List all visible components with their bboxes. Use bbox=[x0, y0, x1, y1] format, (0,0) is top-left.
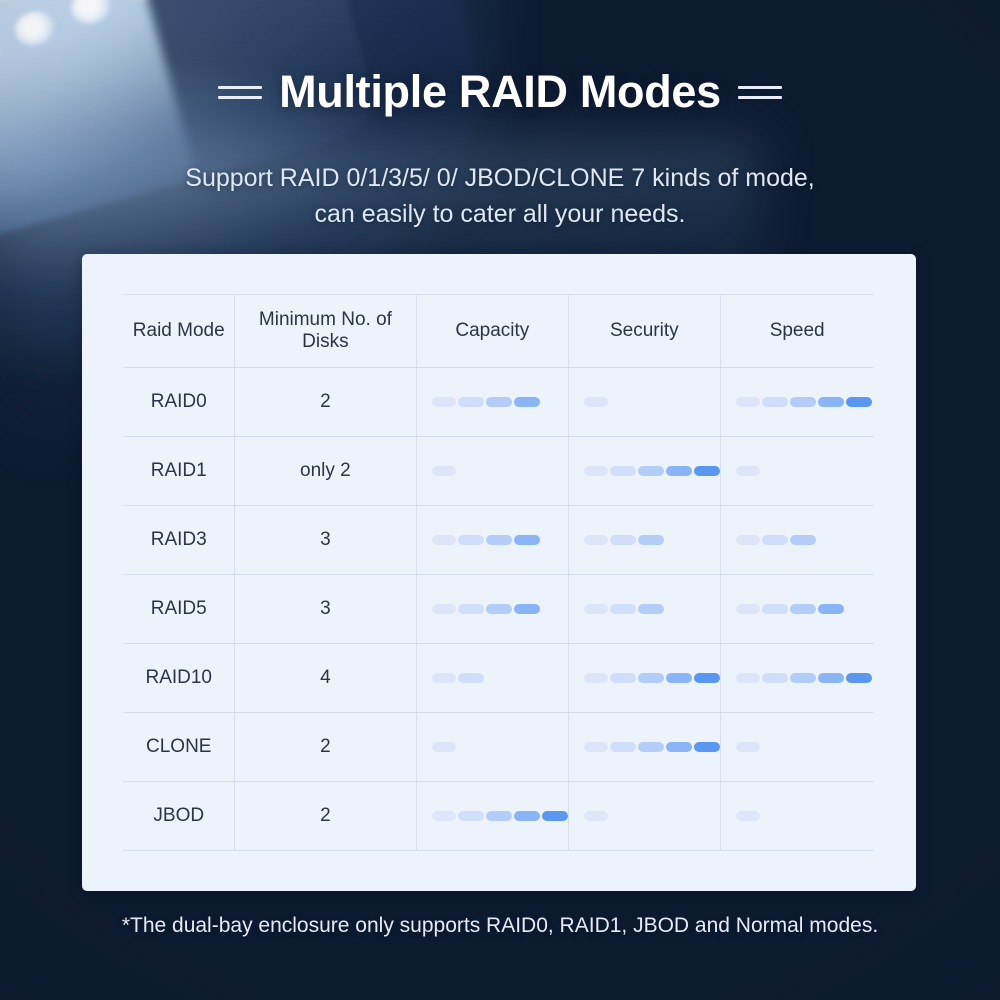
rating-segment bbox=[638, 466, 664, 476]
cell-capacity bbox=[416, 644, 568, 713]
rating-segment bbox=[666, 742, 692, 752]
capacity-rating-bar bbox=[432, 397, 568, 407]
raid-modes-panel: Raid Mode Minimum No. of Disks Capacity … bbox=[82, 254, 916, 891]
rating-segment bbox=[542, 811, 568, 821]
rating-segment bbox=[762, 535, 788, 545]
column-header-raid-mode: Raid Mode bbox=[123, 295, 234, 368]
security-rating-bar bbox=[584, 397, 720, 407]
rating-segment bbox=[610, 742, 636, 752]
cell-raid-mode: CLONE bbox=[123, 713, 234, 782]
speed-rating-bar bbox=[736, 535, 874, 545]
cell-min-disks: 4 bbox=[234, 644, 416, 713]
capacity-rating-bar bbox=[432, 673, 568, 683]
cell-raid-mode: RAID0 bbox=[123, 368, 234, 437]
rating-segment bbox=[638, 742, 664, 752]
cell-security bbox=[568, 437, 720, 506]
table-row: RAID104 bbox=[123, 644, 874, 713]
rating-segment bbox=[610, 673, 636, 683]
cell-speed bbox=[720, 713, 874, 782]
security-rating-bar bbox=[584, 811, 720, 821]
rating-segment bbox=[638, 535, 664, 545]
rating-segment bbox=[736, 466, 760, 476]
cell-capacity bbox=[416, 368, 568, 437]
security-rating-bar bbox=[584, 604, 720, 614]
column-header-capacity: Capacity bbox=[416, 295, 568, 368]
double-dash-rule-icon-left bbox=[218, 86, 262, 99]
cell-security bbox=[568, 644, 720, 713]
cell-security bbox=[568, 368, 720, 437]
rating-segment bbox=[736, 673, 760, 683]
rating-segment bbox=[736, 604, 760, 614]
cell-capacity bbox=[416, 575, 568, 644]
subtitle-line-1: Support RAID 0/1/3/5/ 0/ JBOD/CLONE 7 ki… bbox=[0, 160, 1000, 196]
capacity-rating-bar bbox=[432, 535, 568, 545]
cell-security bbox=[568, 575, 720, 644]
rating-segment bbox=[790, 673, 816, 683]
cell-raid-mode: RAID5 bbox=[123, 575, 234, 644]
title-row: Multiple RAID Modes bbox=[0, 66, 1000, 118]
cell-speed bbox=[720, 506, 874, 575]
table-body: RAID02RAID1only 2RAID33RAID53RAID104CLON… bbox=[123, 368, 874, 851]
rating-segment bbox=[432, 466, 456, 476]
cell-min-disks: 3 bbox=[234, 575, 416, 644]
rating-segment bbox=[432, 742, 456, 752]
speed-rating-bar bbox=[736, 742, 874, 752]
rating-segment bbox=[432, 604, 456, 614]
table-row: RAID02 bbox=[123, 368, 874, 437]
rating-segment bbox=[432, 811, 456, 821]
rating-segment bbox=[514, 604, 540, 614]
rating-segment bbox=[584, 604, 608, 614]
cell-min-disks: only 2 bbox=[234, 437, 416, 506]
rating-segment bbox=[736, 811, 760, 821]
rating-segment bbox=[458, 397, 484, 407]
rating-segment bbox=[846, 673, 872, 683]
table-row: JBOD2 bbox=[123, 782, 874, 851]
rating-segment bbox=[458, 535, 484, 545]
rating-segment bbox=[514, 811, 540, 821]
rating-segment bbox=[818, 397, 844, 407]
rating-segment bbox=[458, 811, 484, 821]
table-row: RAID1only 2 bbox=[123, 437, 874, 506]
column-header-min-disks: Minimum No. of Disks bbox=[234, 295, 416, 368]
rating-segment bbox=[432, 397, 456, 407]
rating-segment bbox=[584, 811, 608, 821]
rating-segment bbox=[736, 397, 760, 407]
rating-segment bbox=[610, 604, 636, 614]
cell-raid-mode: RAID3 bbox=[123, 506, 234, 575]
rating-segment bbox=[584, 742, 608, 752]
rating-segment bbox=[584, 466, 608, 476]
table-header-row: Raid Mode Minimum No. of Disks Capacity … bbox=[123, 295, 874, 368]
rating-segment bbox=[514, 535, 540, 545]
cell-capacity bbox=[416, 437, 568, 506]
table-row: RAID53 bbox=[123, 575, 874, 644]
rating-segment bbox=[486, 397, 512, 407]
rating-segment bbox=[584, 673, 608, 683]
capacity-rating-bar bbox=[432, 466, 568, 476]
rating-segment bbox=[790, 604, 816, 614]
rating-segment bbox=[486, 604, 512, 614]
rating-segment bbox=[694, 673, 720, 683]
cell-speed bbox=[720, 437, 874, 506]
cell-capacity bbox=[416, 713, 568, 782]
table-row: RAID33 bbox=[123, 506, 874, 575]
rating-segment bbox=[818, 604, 844, 614]
cell-speed bbox=[720, 644, 874, 713]
rating-segment bbox=[790, 535, 816, 545]
rating-segment bbox=[458, 673, 484, 683]
table-row: CLONE2 bbox=[123, 713, 874, 782]
cell-min-disks: 3 bbox=[234, 506, 416, 575]
rating-segment bbox=[514, 397, 540, 407]
cell-speed bbox=[720, 368, 874, 437]
rating-segment bbox=[762, 604, 788, 614]
subtitle-line-2: can easily to cater all your needs. bbox=[0, 196, 1000, 232]
capacity-rating-bar bbox=[432, 604, 568, 614]
rating-segment bbox=[610, 535, 636, 545]
speed-rating-bar bbox=[736, 811, 874, 821]
rating-segment bbox=[666, 466, 692, 476]
cell-speed bbox=[720, 782, 874, 851]
column-header-security: Security bbox=[568, 295, 720, 368]
rating-segment bbox=[486, 535, 512, 545]
speed-rating-bar bbox=[736, 604, 874, 614]
cell-min-disks: 2 bbox=[234, 368, 416, 437]
speed-rating-bar bbox=[736, 673, 874, 683]
cell-raid-mode: JBOD bbox=[123, 782, 234, 851]
rating-segment bbox=[432, 535, 456, 545]
rating-segment bbox=[694, 466, 720, 476]
footnote: *The dual-bay enclosure only supports RA… bbox=[0, 914, 1000, 938]
cell-min-disks: 2 bbox=[234, 782, 416, 851]
cell-capacity bbox=[416, 506, 568, 575]
page-title: Multiple RAID Modes bbox=[279, 66, 721, 118]
cell-security bbox=[568, 713, 720, 782]
speed-rating-bar bbox=[736, 466, 874, 476]
cell-speed bbox=[720, 575, 874, 644]
cell-capacity bbox=[416, 782, 568, 851]
capacity-rating-bar bbox=[432, 811, 568, 821]
rating-segment bbox=[486, 811, 512, 821]
security-rating-bar bbox=[584, 535, 720, 545]
double-dash-rule-icon-right bbox=[738, 86, 782, 99]
rating-segment bbox=[762, 673, 788, 683]
rating-segment bbox=[432, 673, 456, 683]
security-rating-bar bbox=[584, 466, 720, 476]
rating-segment bbox=[458, 604, 484, 614]
rating-segment bbox=[762, 397, 788, 407]
rating-segment bbox=[846, 397, 872, 407]
rating-segment bbox=[818, 673, 844, 683]
cell-min-disks: 2 bbox=[234, 713, 416, 782]
rating-segment bbox=[584, 397, 608, 407]
rating-segment bbox=[736, 535, 760, 545]
rating-segment bbox=[584, 535, 608, 545]
cell-raid-mode: RAID10 bbox=[123, 644, 234, 713]
cell-security bbox=[568, 506, 720, 575]
column-header-speed: Speed bbox=[720, 295, 874, 368]
rating-segment bbox=[610, 466, 636, 476]
rating-segment bbox=[736, 742, 760, 752]
rating-segment bbox=[790, 397, 816, 407]
security-rating-bar bbox=[584, 742, 720, 752]
rating-segment bbox=[694, 742, 720, 752]
speed-rating-bar bbox=[736, 397, 874, 407]
rating-segment bbox=[638, 604, 664, 614]
raid-comparison-table: Raid Mode Minimum No. of Disks Capacity … bbox=[123, 294, 874, 851]
rating-segment bbox=[666, 673, 692, 683]
subtitle: Support RAID 0/1/3/5/ 0/ JBOD/CLONE 7 ki… bbox=[0, 160, 1000, 232]
cell-raid-mode: RAID1 bbox=[123, 437, 234, 506]
security-rating-bar bbox=[584, 673, 720, 683]
cell-security bbox=[568, 782, 720, 851]
rating-segment bbox=[638, 673, 664, 683]
capacity-rating-bar bbox=[432, 742, 568, 752]
